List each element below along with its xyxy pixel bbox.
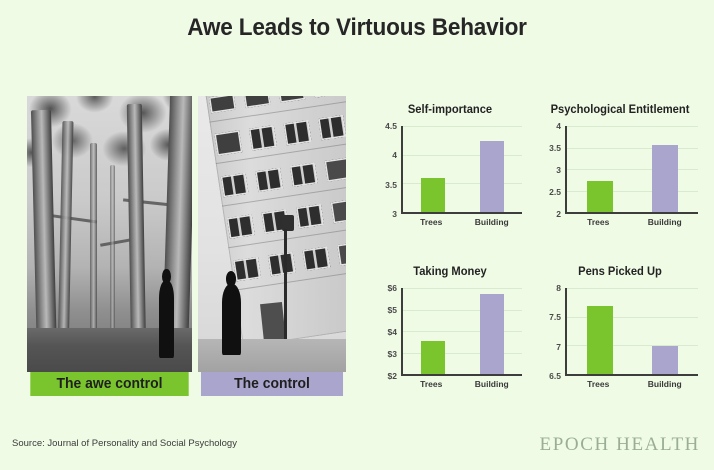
- page-title: Awe Leads to Virtuous Behavior: [21, 14, 692, 42]
- y-axis-tick-label: 6.5: [549, 371, 561, 381]
- caption-awe: The awe control: [30, 372, 188, 396]
- bar-trees: [587, 306, 613, 374]
- photo-panel-awe: The awe control: [27, 96, 192, 396]
- bar-building: [480, 294, 504, 374]
- y-axis-tick-label: $2: [388, 371, 397, 381]
- bar-trees: [421, 178, 445, 212]
- window: [256, 167, 284, 192]
- bar-building: [652, 145, 678, 213]
- chart-taking-money: Taking Money $6$5$4$3$2 TreesBuilding: [376, 264, 524, 392]
- person-silhouette-icon: [222, 284, 241, 356]
- bar-trees: [587, 181, 613, 212]
- trees-photo: [27, 96, 192, 372]
- chart-title: Taking Money: [378, 264, 522, 280]
- window: [244, 96, 271, 108]
- plot-frame: [401, 288, 522, 376]
- bar-slot: [473, 288, 511, 374]
- plot-area: $6$5$4$3$2 TreesBuilding: [376, 288, 524, 376]
- window: [290, 162, 318, 187]
- plot-frame: [565, 126, 698, 214]
- y-axis-tick-label: 2.5: [549, 187, 561, 197]
- bar-building: [480, 141, 504, 212]
- y-axis-tick-label: $5: [388, 305, 397, 315]
- window: [331, 199, 346, 224]
- y-axis-tick-label: 8: [556, 283, 561, 293]
- chart-self-importance: Self-importance 4.543.53 TreesBuilding: [376, 102, 524, 230]
- x-axis-tick-label: Building: [472, 379, 511, 389]
- bar-group: [403, 288, 522, 374]
- photo-panel-control: The control condition: [198, 96, 346, 396]
- window: [234, 256, 262, 281]
- y-axis-tick-label: 7: [556, 342, 561, 352]
- x-axis-labels: TreesBuilding: [565, 214, 698, 227]
- window-row: [215, 110, 346, 155]
- bar-slot: [414, 288, 452, 374]
- bar-slot: [644, 126, 686, 212]
- x-axis-tick-label: Trees: [412, 217, 451, 227]
- street-lamp-post: [284, 229, 287, 356]
- window: [221, 172, 249, 197]
- bar-group: [567, 288, 698, 374]
- y-axis: 87.576.5: [540, 288, 564, 376]
- bar-trees: [421, 341, 445, 374]
- y-axis-tick-label: 3: [556, 165, 561, 175]
- y-axis: 43.532.52: [540, 126, 564, 214]
- sidewalk: [198, 339, 346, 372]
- bar-building: [652, 346, 678, 374]
- y-axis: 4.543.53: [376, 126, 400, 214]
- building-entrance: [260, 302, 286, 343]
- y-axis-tick-label: 3.5: [385, 180, 397, 190]
- bar-slot: [644, 288, 686, 374]
- plot-frame: [565, 288, 698, 376]
- bar-slot: [579, 126, 621, 212]
- window: [313, 96, 340, 98]
- y-axis-tick-label: 4.5: [385, 121, 397, 131]
- infographic-canvas: Awe Leads to Virtuous Behavior The awe c…: [0, 0, 714, 470]
- chart-pens-picked-up: Pens Picked Up 87.576.5 TreesBuilding: [540, 264, 700, 392]
- x-axis-labels: TreesBuilding: [401, 214, 522, 227]
- window: [303, 246, 331, 271]
- bar-slot: [414, 126, 452, 212]
- plot-frame: [401, 126, 522, 214]
- x-axis-tick-label: Trees: [577, 217, 620, 227]
- person-silhouette-icon: [159, 281, 174, 358]
- plot-area: 87.576.5 TreesBuilding: [540, 288, 700, 376]
- y-axis: $6$5$4$3$2: [376, 288, 400, 376]
- source-note: Source: Journal of Personality and Socia…: [12, 438, 237, 449]
- window: [209, 96, 236, 113]
- window: [227, 214, 255, 239]
- window: [268, 251, 296, 276]
- window: [337, 241, 346, 266]
- window: [318, 115, 346, 140]
- x-axis-tick-label: Building: [472, 217, 511, 227]
- y-axis-tick-label: $4: [388, 327, 397, 337]
- x-axis-tick-label: Building: [643, 379, 686, 389]
- window: [284, 120, 312, 145]
- tree-trunk: [90, 143, 97, 358]
- y-axis-tick-label: 3: [392, 209, 397, 219]
- chart-title: Psychological Entitlement: [542, 102, 697, 118]
- window: [278, 96, 305, 103]
- window: [215, 131, 243, 156]
- bar-group: [567, 126, 698, 212]
- y-axis-tick-label: 4: [556, 121, 561, 131]
- brand-logo: EPOCH HEALTH: [540, 434, 700, 456]
- bar-slot: [473, 126, 511, 212]
- bar-group: [403, 126, 522, 212]
- window: [249, 125, 277, 150]
- chart-psychological-entitlement: Psychological Entitlement 43.532.52 Tree…: [540, 102, 700, 230]
- x-axis-labels: TreesBuilding: [401, 376, 522, 389]
- x-axis-tick-label: Trees: [412, 379, 451, 389]
- y-axis-tick-label: $6: [388, 283, 397, 293]
- building-photo: [198, 96, 346, 372]
- plot-area: 4.543.53 TreesBuilding: [376, 126, 524, 214]
- bar-slot: [579, 288, 621, 374]
- window: [325, 157, 346, 182]
- x-axis-tick-label: Trees: [577, 379, 620, 389]
- x-axis-labels: TreesBuilding: [565, 376, 698, 389]
- x-axis-tick-label: Building: [643, 217, 686, 227]
- chart-title: Pens Picked Up: [542, 264, 697, 280]
- plot-area: 43.532.52 TreesBuilding: [540, 126, 700, 214]
- caption-control: The control condition: [201, 372, 343, 396]
- y-axis-tick-label: 4: [392, 150, 397, 160]
- window: [296, 204, 324, 229]
- y-axis-tick-label: 2: [556, 209, 561, 219]
- y-axis-tick-label: 7.5: [549, 312, 561, 322]
- y-axis-tick-label: 3.5: [549, 143, 561, 153]
- y-axis-tick-label: $3: [388, 349, 397, 359]
- chart-title: Self-importance: [378, 102, 522, 118]
